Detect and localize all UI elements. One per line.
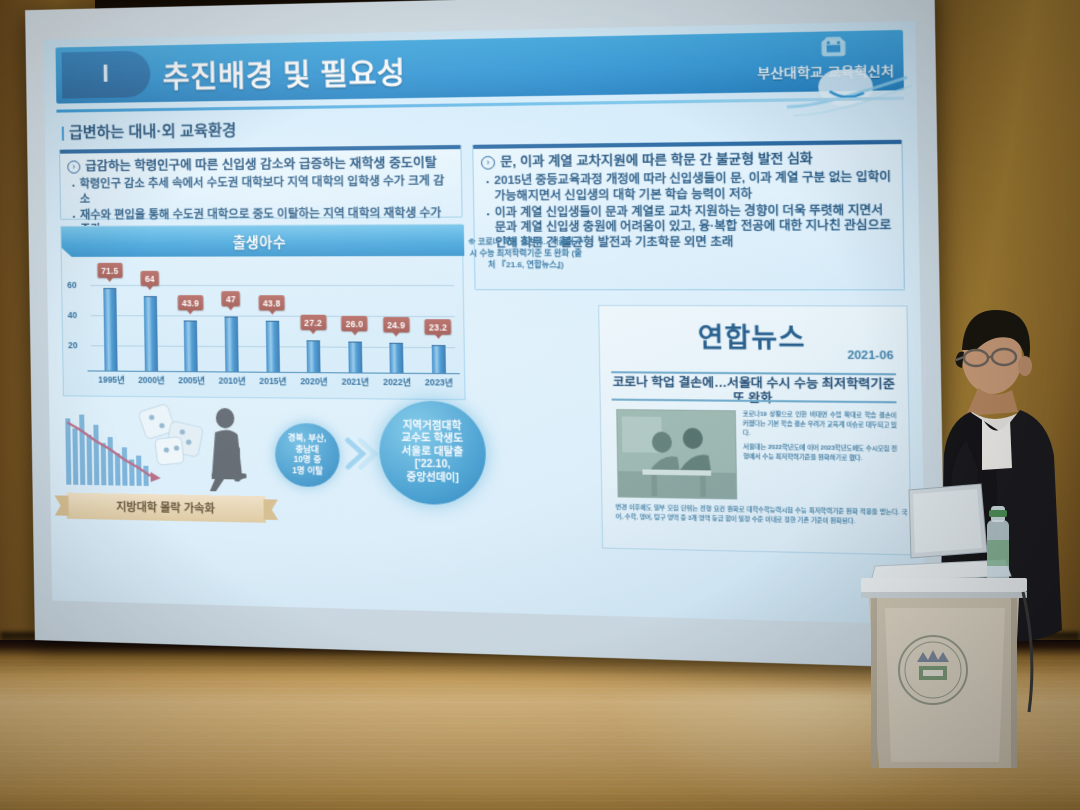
water-bottle xyxy=(987,506,1009,586)
callout-big-line: 지역거점대학 xyxy=(401,420,463,434)
news-body-text: 코로나19 상황으로 인한 비대면 수업 확대로 학습 결손이 커졌다는 기본 … xyxy=(742,410,897,468)
chevron-right-icon: › xyxy=(67,160,80,173)
bar-value-label: 47 xyxy=(222,291,240,306)
callout-big-circle: 지역거점대학 교수도 학생도 서울로 대탈출 ['22.10, 중앙선데이] xyxy=(379,400,487,505)
bar-value-label: 27.2 xyxy=(300,315,326,330)
x-tick-label: 2010년 xyxy=(212,374,253,393)
callout-big-line: 서울로 대탈출 xyxy=(402,446,464,460)
panel-left-heading: 급감하는 학령인구에 따른 신입생 감소와 급증하는 재학생 중도이탈 xyxy=(85,156,437,175)
y-tick-label: 60 xyxy=(67,280,77,290)
chevron-right-icon: › xyxy=(481,156,495,170)
chart-bar-group: 64 xyxy=(130,278,172,371)
callout-big-line: 중앙선데이] xyxy=(402,472,464,486)
chart-bar-group: 71.5 xyxy=(90,278,131,371)
chart-plot-area: 60 40 20 71.56443.94743.827.226.024.923.… xyxy=(62,258,467,401)
chart-bar-group: 27.2 xyxy=(292,278,335,372)
callout-small-line: 1명 이탈 xyxy=(288,465,327,476)
falling-dice-icon xyxy=(138,403,204,466)
projection-screen: I 추진배경 및 필요성 부산대학교 교육혁신처 xyxy=(25,0,946,668)
chart-title-banner: 출생아수 xyxy=(61,225,464,257)
double-chevron-right-icon xyxy=(343,436,379,472)
x-tick-label: 2020년 xyxy=(293,375,335,394)
panel-right-heading: 문, 이과 계열 교차지원에 따른 학문 간 불균형 발전 심화 xyxy=(500,151,813,170)
seated-person-silhouette-icon xyxy=(209,408,247,492)
chart-bars: 71.56443.94743.827.226.024.923.2 xyxy=(90,278,460,373)
list-item: 2015년 중등교육과정 개정에 따라 신입생들이 문, 이과 계열 구분 없는… xyxy=(484,170,893,205)
chart-bar xyxy=(307,340,321,372)
news-headline: 코로나 학업 결손에…서울대 수시 수능 최저학력기준 또 완화 xyxy=(609,375,899,408)
news-paragraph: 코로나19 상황으로 인한 비대면 수업 확대로 학습 결손이 커졌다는 기본 … xyxy=(742,410,897,440)
pusan-national-university-emblem-icon xyxy=(816,33,851,61)
section-title: |급변하는 대내·외 교육환경 xyxy=(61,119,237,143)
chart-bar-group: 23.2 xyxy=(416,278,460,373)
auditorium-photo: I 추진배경 및 필요성 부산대학교 교육혁신처 xyxy=(0,0,1080,810)
panel-left: › 급감하는 학령인구에 따른 신입생 감소와 급증하는 재학생 중도이탈 학령… xyxy=(59,145,463,220)
y-tick-label: 40 xyxy=(68,310,78,320)
chart-source-note: ※ 코로나 학업 결손에…서울대 수시 수능 최저학력기준 또 완화 (출처 『… xyxy=(467,236,584,271)
callout-small-line: 10명 중 xyxy=(288,455,327,466)
callout-big-line: ['22.10, xyxy=(402,459,464,473)
bar-value-label: 23.2 xyxy=(425,319,452,335)
classroom-illustration-icon xyxy=(617,410,737,499)
illustration-banner: 지방대학 몰락 가속화 xyxy=(66,493,265,523)
section-title-label: 급변하는 대내·외 교육환경 xyxy=(69,122,237,141)
chart-bar-group: 26.0 xyxy=(333,278,376,373)
chart-bar xyxy=(104,288,118,371)
callout-small-line: 경북, 부산, xyxy=(288,433,327,444)
x-tick-label: 2021년 xyxy=(335,375,377,394)
podium xyxy=(855,480,1035,770)
news-date: 2021-06 xyxy=(847,349,893,362)
bar-value-label: 64 xyxy=(141,271,159,286)
chart-bar xyxy=(144,296,158,371)
x-tick-label: 2023년 xyxy=(418,376,460,395)
chart-bar-group: 43.9 xyxy=(170,278,212,371)
classroom-students-photo xyxy=(616,409,737,499)
news-divider xyxy=(611,371,896,375)
chart-bar xyxy=(184,320,198,371)
slide-header-tab: I xyxy=(62,51,151,99)
x-tick-label: 2000년 xyxy=(131,374,171,393)
y-tick-label: 20 xyxy=(68,340,78,350)
chart-bar xyxy=(390,343,404,373)
callout-small-line: 충남대 xyxy=(288,444,327,455)
news-paragraph: 서울대는 2022학년도에 이어 2023학년도에도 수시모집 전형에서 수능 … xyxy=(743,443,898,464)
callout-small-circle: 경북, 부산, 충남대 10명 중 1명 이탈 xyxy=(275,423,341,487)
bar-value-label: 43.8 xyxy=(259,295,285,310)
chart-bar xyxy=(224,317,238,372)
regional-university-decline-illustration: 지방대학 몰락 가속화 xyxy=(63,400,278,535)
x-tick-label: 2005년 xyxy=(171,374,212,393)
presentation-slide: I 추진배경 및 필요성 부산대학교 교육혁신처 xyxy=(43,21,925,625)
birth-rate-chart-card: 출생아수 60 40 20 71.56443.94743.827.226.024… xyxy=(60,224,465,400)
slide-header-tab-label: I xyxy=(102,60,110,88)
x-tick-label: 2015년 xyxy=(252,375,293,394)
chart-x-labels: 1995년2000년2005년2010년2015년2020년2021년2022년… xyxy=(92,373,461,395)
x-tick-label: 1995년 xyxy=(92,373,132,391)
page-title: 추진배경 및 필요성 xyxy=(162,50,406,97)
bar-value-label: 43.9 xyxy=(178,295,204,310)
chart-bar-group: 47 xyxy=(210,278,252,372)
section-title-bar-icon: | xyxy=(61,125,65,142)
chart-bar xyxy=(431,345,445,373)
chart-bar-group: 43.8 xyxy=(251,278,293,372)
bar-value-label: 71.5 xyxy=(97,263,122,278)
callout-big-line: 교수도 학생도 xyxy=(401,433,463,447)
list-item: 학령인구 감소 추세 속에서 수도권 대학보다 지역 대학의 입학생 수가 크게… xyxy=(70,174,452,207)
chart-bar-group: 24.9 xyxy=(374,278,417,373)
declining-bar-chart-icon xyxy=(63,400,278,504)
x-tick-label: 2022년 xyxy=(376,376,418,395)
chart-bar xyxy=(265,321,279,372)
chart-title: 출생아수 xyxy=(233,231,287,252)
chart-bar xyxy=(348,342,362,373)
bar-value-label: 26.0 xyxy=(341,316,367,332)
bar-value-label: 24.9 xyxy=(383,317,410,333)
